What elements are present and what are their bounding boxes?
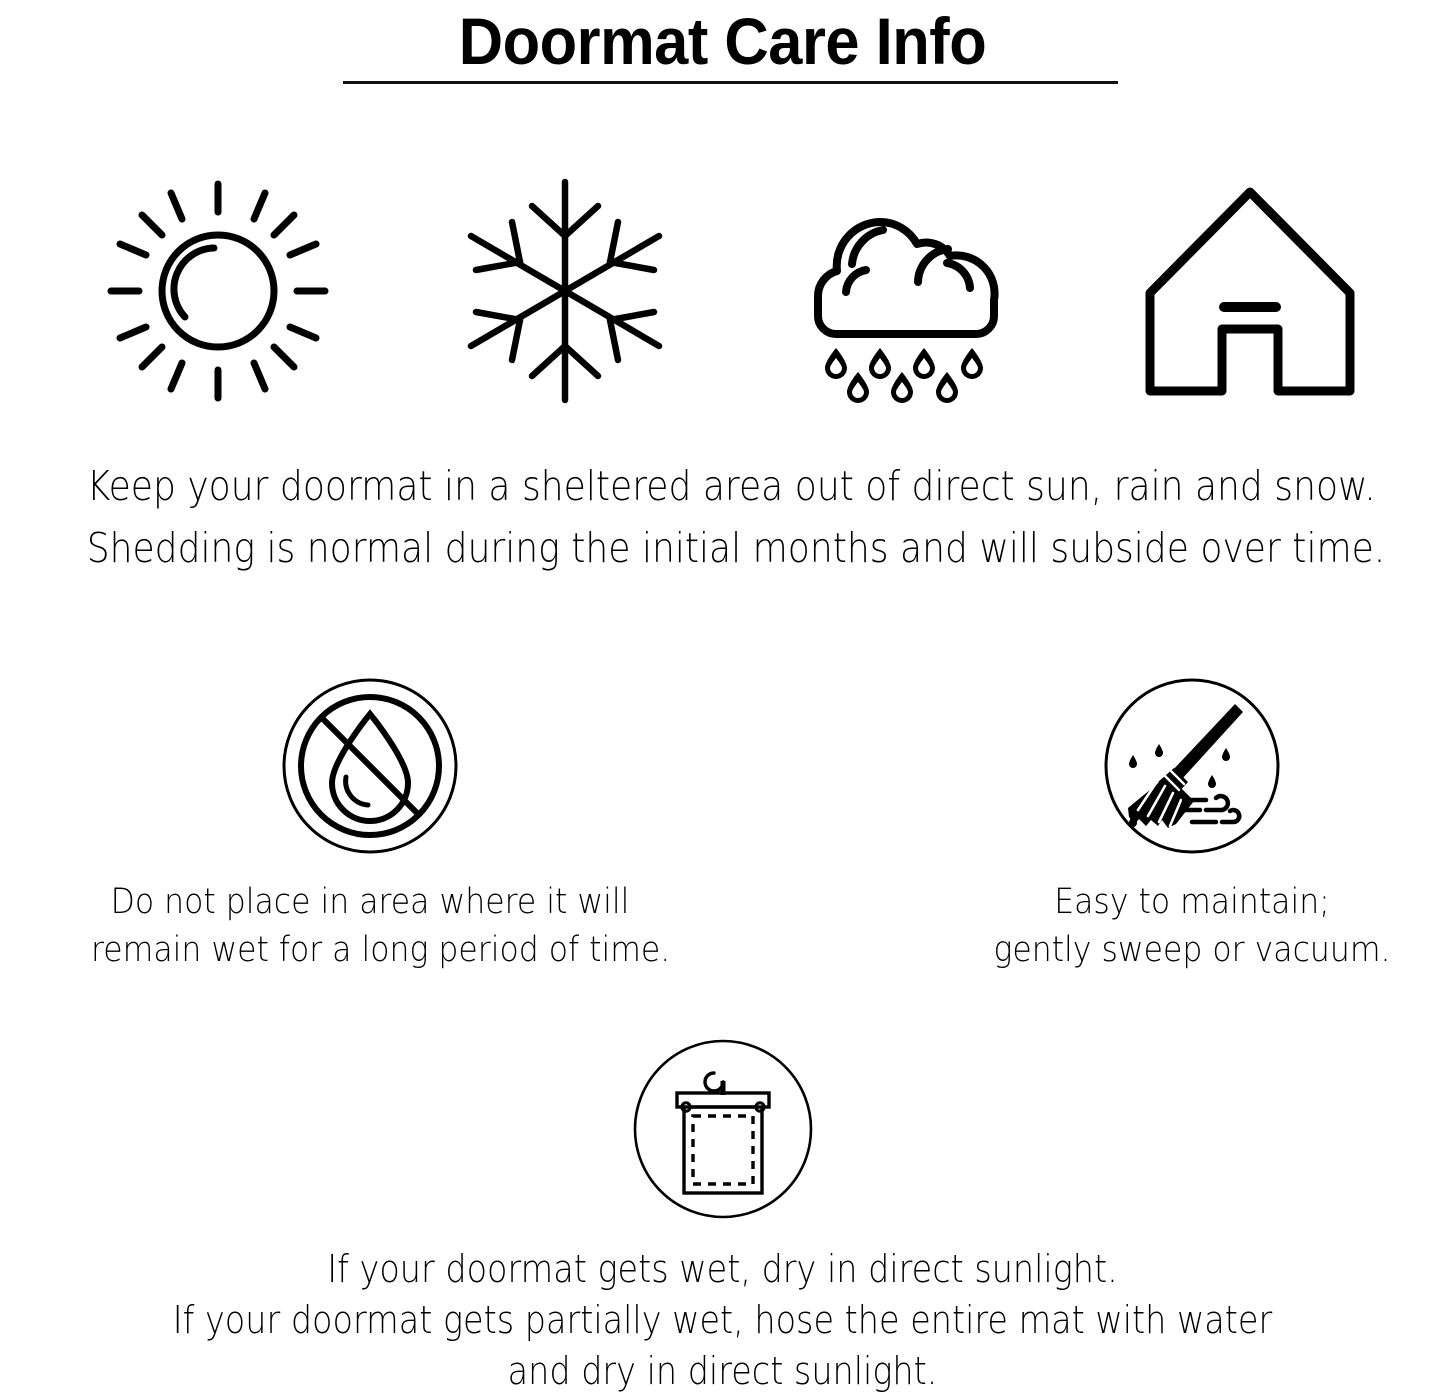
care-item-no-wet-line-2: remain wet for a long period of time. [91,926,649,974]
care-item-sweep-line-2: gently sweep or vacuum. [913,926,1445,974]
intro-line-2: Shedding is normal during the initial mo… [87,517,1359,579]
page-title: Doormat Care Info [51,0,1395,78]
sun-icon [103,176,333,406]
drying-section: If your doormat gets wet, dry in direct … [0,1038,1445,1397]
intro-paragraph: Keep your doormat in a sheltered area ou… [0,455,1445,579]
broom-icon [1102,676,1282,856]
care-item-sweep-caption: Easy to maintain; gently sweep or vacuum… [882,878,1445,974]
intro-line-1: Keep your doormat in a sheltered area ou… [87,455,1359,517]
care-item-no-wet-line-1: Do not place in area where it will [91,878,649,926]
drying-line-2: If your doormat gets partially wet, hose… [87,1295,1359,1346]
snowflake-icon [450,176,680,406]
care-item-no-wet-caption: Do not place in area where it will remai… [60,878,680,974]
care-item-sweep-line-1: Easy to maintain; [913,878,1445,926]
weather-icon-row [0,176,1445,406]
drying-line-3: and dry in direct sunlight. [87,1346,1359,1397]
drying-caption: If your doormat gets wet, dry in direct … [0,1244,1445,1397]
rain-cloud-icon [790,176,1020,406]
house-icon [1135,176,1365,406]
care-items-row: Do not place in area where it will remai… [0,676,1445,976]
no-water-icon [280,676,460,856]
title-underline-rule [343,81,1118,84]
care-item-no-wet: Do not place in area where it will remai… [60,676,680,974]
drying-line-1: If your doormat gets wet, dry in direct … [87,1244,1359,1295]
care-item-sweep: Easy to maintain; gently sweep or vacuum… [882,676,1445,974]
hang-dry-icon [632,1038,814,1220]
page-header: Doormat Care Info [0,0,1445,78]
